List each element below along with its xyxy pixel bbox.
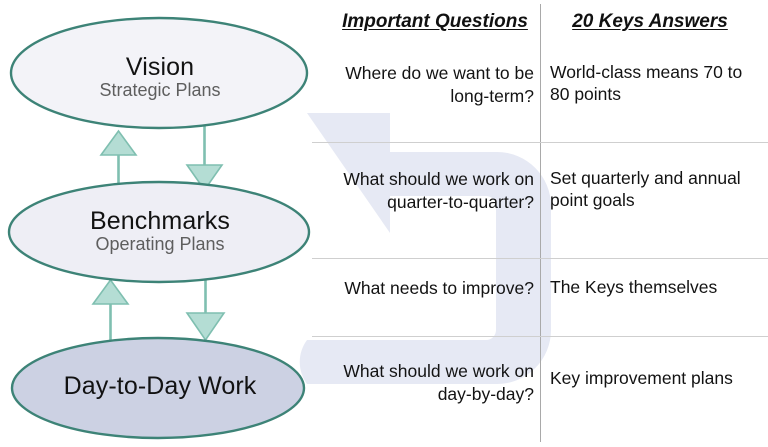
- questions-answers-table: Important Questions 20 Keys Answers Wher…: [312, 0, 768, 447]
- daytoday-down-arrow: [187, 272, 224, 340]
- diagram-canvas: Vision Strategic Plans Benchmarks Operat…: [0, 0, 768, 447]
- ellipse-vision: [11, 18, 307, 128]
- table-row-divider: [312, 142, 768, 143]
- answer-cell: World-class means 70 to 80 points: [550, 62, 766, 106]
- answer-cell: Set quarterly and annual point goals: [550, 168, 766, 212]
- question-cell: What needs to improve?: [318, 277, 534, 300]
- column-header-important-questions: Important Questions: [324, 11, 546, 33]
- table-row-divider: [312, 258, 768, 259]
- answer-cell: Key improvement plans: [550, 368, 766, 390]
- question-cell: What should we work on day-by-day?: [318, 360, 534, 406]
- table-row-divider: [312, 336, 768, 337]
- question-cell: What should we work on quarter-to-quarte…: [318, 168, 534, 214]
- question-cell: Where do we want to be long-term?: [318, 62, 534, 108]
- ellipse-benchmarks: [9, 182, 309, 282]
- hierarchy-column: Vision Strategic Plans Benchmarks Operat…: [0, 0, 320, 447]
- table-column-divider: [540, 4, 541, 442]
- ellipse-day-to-day-work: [12, 338, 304, 438]
- hierarchy-shapes: [0, 0, 320, 447]
- column-header-20-keys-answers: 20 Keys Answers: [550, 11, 750, 33]
- daytoday-up-arrow: [93, 280, 128, 345]
- vision-down-arrow: [187, 124, 222, 190]
- answer-cell: The Keys themselves: [550, 277, 766, 299]
